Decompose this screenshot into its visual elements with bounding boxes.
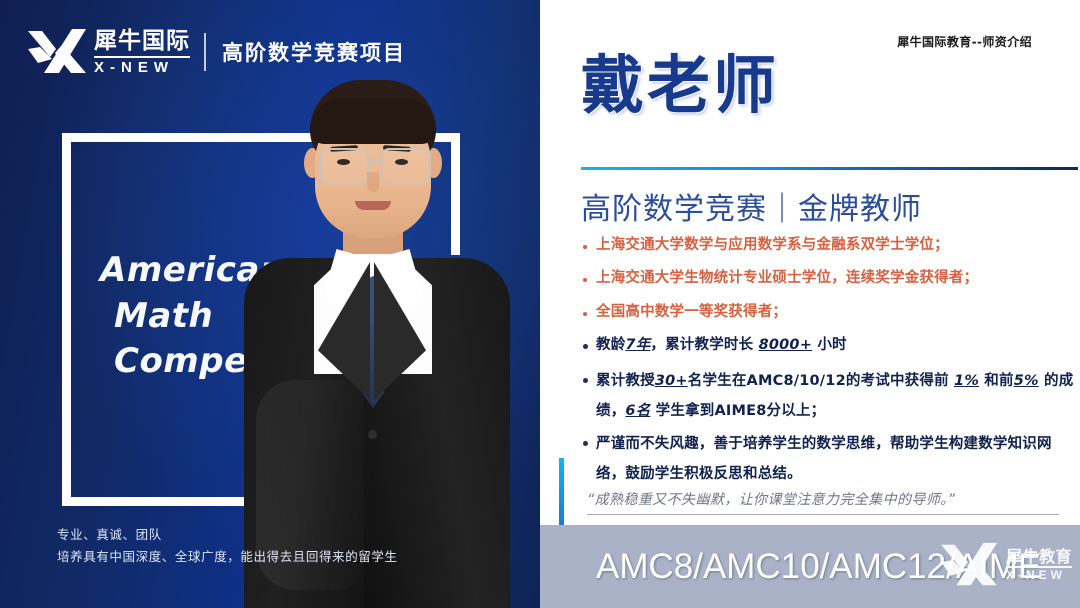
eyebrow-label: 犀牛国际教育--师资介绍	[897, 33, 1032, 50]
list-item-text: 上海交通大学生物统计专业硕士学位，连续奖学金获得者；	[596, 265, 978, 293]
brand-name-cn: 犀牛国际	[94, 29, 190, 53]
right-panel: 犀牛国际教育--师资介绍 戴老师 高阶数学竞赛｜金牌教师 上海交通大学数学与应用…	[540, 0, 1080, 608]
rhino-x-logo-icon	[26, 25, 88, 79]
banner-watermark-logo: 犀牛教育 X-NEW	[937, 539, 1072, 591]
caption-line-1: 专业、真诚、团队	[57, 524, 398, 546]
bullet-dot-icon	[574, 299, 596, 329]
bullet-dot-icon	[574, 265, 596, 295]
brand-name-en: X-NEW	[94, 60, 190, 75]
bottom-banner: AMC8/AMC10/AMC12/AIME 犀牛教育 X-NEW	[540, 525, 1080, 608]
title-divider-rule	[581, 167, 1078, 170]
slide-root: 犀牛国际 X-NEW 高阶数学竞赛项目 American Math Compet…	[0, 0, 1080, 608]
list-item-text: 教龄7年，累计教学时长 8000+ 小时	[596, 332, 847, 360]
list-item-text: 严谨而不失风趣，善于培养学生的数学思维，帮助学生构建数学知识网络，鼓励学生积极反…	[596, 429, 1074, 489]
list-item: 上海交通大学生物统计专业硕士学位，连续奖学金获得者；	[574, 265, 1074, 295]
credentials-list: 上海交通大学数学与应用数学系与金融系双学士学位； 上海交通大学生物统计专业硕士学…	[574, 232, 1074, 492]
subtitle: 高阶数学竞赛｜金牌教师	[581, 184, 922, 228]
caption-line-2: 培养具有中国深度、全球广度，能出得去且回得来的留学生	[57, 546, 398, 568]
brand-wordmark: 犀牛国际 X-NEW	[94, 27, 190, 77]
list-item: 教龄7年，累计教学时长 8000+ 小时	[574, 332, 1074, 362]
bullet-dot-icon	[574, 366, 596, 396]
banner-watermark-cn: 犀牛教育	[1006, 548, 1072, 566]
brand-separator	[204, 33, 206, 71]
left-panel: 犀牛国际 X-NEW 高阶数学竞赛项目 American Math Compet…	[0, 0, 540, 608]
header-title: 高阶数学竞赛项目	[222, 37, 406, 67]
list-item: 上海交通大学数学与应用数学系与金融系双学士学位；	[574, 232, 1074, 262]
banner-watermark-wordmark: 犀牛教育 X-NEW	[1006, 548, 1072, 583]
list-item: 严谨而不失风趣，善于培养学生的数学思维，帮助学生构建数学知识网络，鼓励学生积极反…	[574, 429, 1074, 489]
list-item-text: 上海交通大学数学与应用数学系与金融系双学士学位；	[596, 232, 949, 260]
list-item: 累计教授30+名学生在AMC8/10/12的考试中获得前 1% 和前5% 的成绩…	[574, 366, 1074, 426]
bullet-dot-icon	[574, 332, 596, 362]
list-item-text: 全国高中数学一等奖获得者；	[596, 299, 787, 327]
teacher-name: 戴老师	[581, 54, 779, 117]
bullet-dot-icon	[574, 232, 596, 262]
left-caption: 专业、真诚、团队 培养具有中国深度、全球广度，能出得去且回得来的留学生	[57, 524, 398, 567]
brand-lockup: 犀牛国际 X-NEW 高阶数学竞赛项目	[26, 22, 406, 82]
bullet-dot-icon	[574, 429, 596, 459]
quote-text: “成熟稳重又不失幽默，让你课堂注意力完全集中的导师。”	[587, 489, 1059, 515]
frame-edge-left	[62, 133, 71, 506]
rhino-x-watermark-icon	[937, 539, 1001, 591]
brand-divider-rule	[94, 56, 190, 58]
banner-watermark-en: X-NEW	[1006, 569, 1072, 582]
list-item-text: 累计教授30+名学生在AMC8/10/12的考试中获得前 1% 和前5% 的成绩…	[596, 366, 1074, 426]
list-item: 全国高中数学一等奖获得者；	[574, 299, 1074, 329]
